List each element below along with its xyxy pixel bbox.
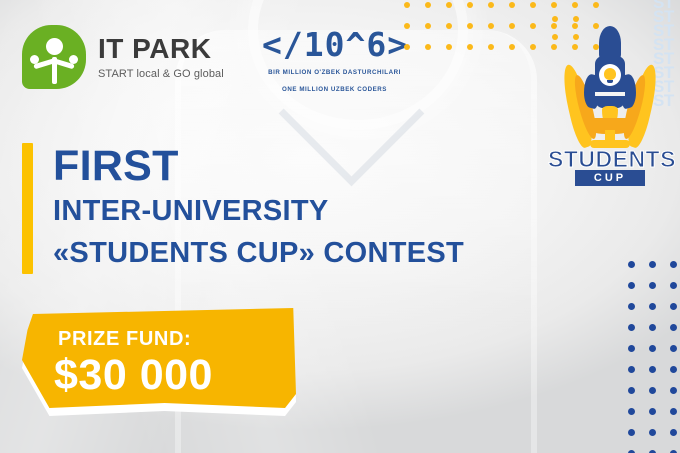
students-cup-emblem: STUDENTS CUP (548, 18, 672, 183)
headline-line-2: INTER-UNIVERSITY (53, 190, 464, 232)
headline-line-1: FIRST (53, 143, 464, 190)
decorative-dot (404, 2, 410, 8)
decorative-dot (530, 23, 536, 29)
million-coders-subtitle-uz: BIR MILLION O'ZBEK DASTURCHILARI (262, 68, 407, 78)
decorative-dot (509, 44, 515, 50)
decorative-dot (670, 261, 677, 268)
decorative-dot (628, 387, 635, 394)
headline-block: FIRST INTER-UNIVERSITY «STUDENTS CUP» CO… (22, 143, 464, 274)
million-coders-subtitle-en: ONE MILLION UZBEK CODERS (262, 85, 407, 95)
decorative-dot (670, 366, 677, 373)
decorative-dot (404, 23, 410, 29)
rocket-icon (587, 26, 633, 124)
decorative-dot (649, 303, 656, 310)
decorative-dot (446, 44, 452, 50)
decorative-dot (649, 324, 656, 331)
decorative-dot (670, 408, 677, 415)
decorative-dot (649, 366, 656, 373)
decorative-dot (670, 303, 677, 310)
decorative-dot (670, 324, 677, 331)
decorative-dot (446, 23, 452, 29)
decorative-dot (628, 282, 635, 289)
decorative-dot (628, 345, 635, 352)
decorative-dot (670, 387, 677, 394)
emblem-ribbon: CUP (575, 170, 645, 186)
decorative-dot (649, 408, 656, 415)
decorative-dot (649, 345, 656, 352)
decorative-dot (530, 44, 536, 50)
decorative-dot (649, 282, 656, 289)
decorative-dot (670, 282, 677, 289)
decorative-dot (628, 429, 635, 436)
million-coders-mark: </10^6> (262, 28, 407, 61)
decorative-dot (467, 2, 473, 8)
decorative-dot (425, 2, 431, 8)
decorative-dot (467, 23, 473, 29)
decorative-dot (488, 23, 494, 29)
prize-badge-shape: PRIZE FUND: $30 000 (22, 308, 296, 408)
million-coders-logo: </10^6> BIR MILLION O'ZBEK DASTURCHILARI… (262, 28, 407, 95)
decorative-dot (509, 2, 515, 8)
headline-accent-bar (22, 143, 33, 274)
it-park-logo: IT PARK START local & GO global (22, 25, 224, 89)
it-park-tagline: START local & GO global (98, 69, 224, 80)
decorative-dot (628, 408, 635, 415)
decorative-dot (530, 2, 536, 8)
decorative-dot (628, 324, 635, 331)
blue-dot-grid-bottom (628, 261, 680, 453)
decorative-dot (446, 2, 452, 8)
decorative-dot (649, 387, 656, 394)
prize-fund-badge: PRIZE FUND: $30 000 (14, 308, 304, 418)
prize-fund-amount: $30 000 (54, 351, 213, 400)
decorative-dot (467, 44, 473, 50)
decorative-dot (649, 429, 656, 436)
decorative-dot (488, 44, 494, 50)
decorative-dot (404, 44, 410, 50)
decorative-dot (488, 2, 494, 8)
decorative-dot (670, 345, 677, 352)
poster-canvas: STSTSTSTSTSTSTST IT PARK START local & G… (0, 0, 680, 453)
it-park-name: IT PARK (98, 35, 224, 63)
it-park-leaf-person-icon (22, 25, 86, 89)
headline-line-3: «STUDENTS CUP» CONTEST (53, 232, 464, 274)
decorative-dot (572, 2, 578, 8)
decorative-dot (628, 366, 635, 373)
decorative-dot (425, 23, 431, 29)
decorative-dot (628, 303, 635, 310)
prize-fund-label: PRIZE FUND: (58, 328, 191, 351)
emblem-title: STUDENTS (548, 146, 672, 173)
decorative-dot (628, 261, 635, 268)
decorative-dot (425, 44, 431, 50)
decorative-dot (649, 261, 656, 268)
decorative-dot (509, 23, 515, 29)
decorative-dot (670, 429, 677, 436)
decorative-dot (593, 2, 599, 8)
decorative-dot (551, 2, 557, 8)
